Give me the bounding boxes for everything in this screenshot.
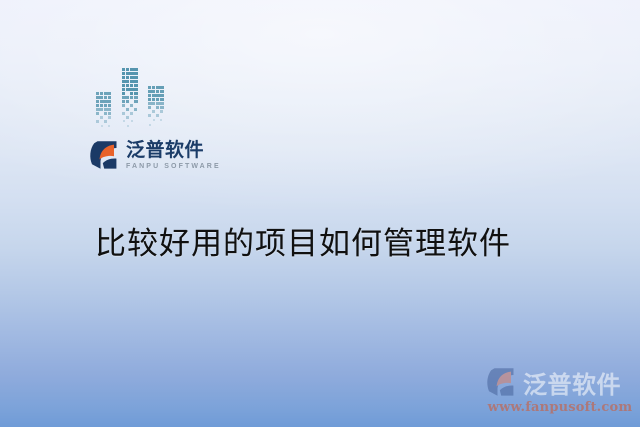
watermark-url: www.fanpusoft.com xyxy=(484,400,636,415)
page-title: 比较好用的项目如何管理软件 xyxy=(95,218,511,263)
pixel-city-skyline-icon xyxy=(92,62,172,136)
brand-wordmark: 泛普软件 FANPU SOFTWARE xyxy=(126,141,221,170)
brand-name-en: FANPU SOFTWARE xyxy=(126,163,221,170)
watermark: 泛普软件 www.fanpusoft.com xyxy=(484,365,636,419)
watermark-logo-row: 泛普软件 xyxy=(484,365,636,399)
brand-name-cn: 泛普软件 xyxy=(126,141,221,160)
fanpu-hexagon-swoosh-logo-icon xyxy=(484,366,518,398)
watermark-name-cn: 泛普软件 xyxy=(523,365,621,400)
slide-canvas: 泛普软件 FANPU SOFTWARE 比较好用的项目如何管理软件 泛普软件 w… xyxy=(0,0,640,427)
brand-logo: 泛普软件 FANPU SOFTWARE xyxy=(88,139,221,171)
fanpu-hexagon-swoosh-logo-icon xyxy=(88,139,120,171)
